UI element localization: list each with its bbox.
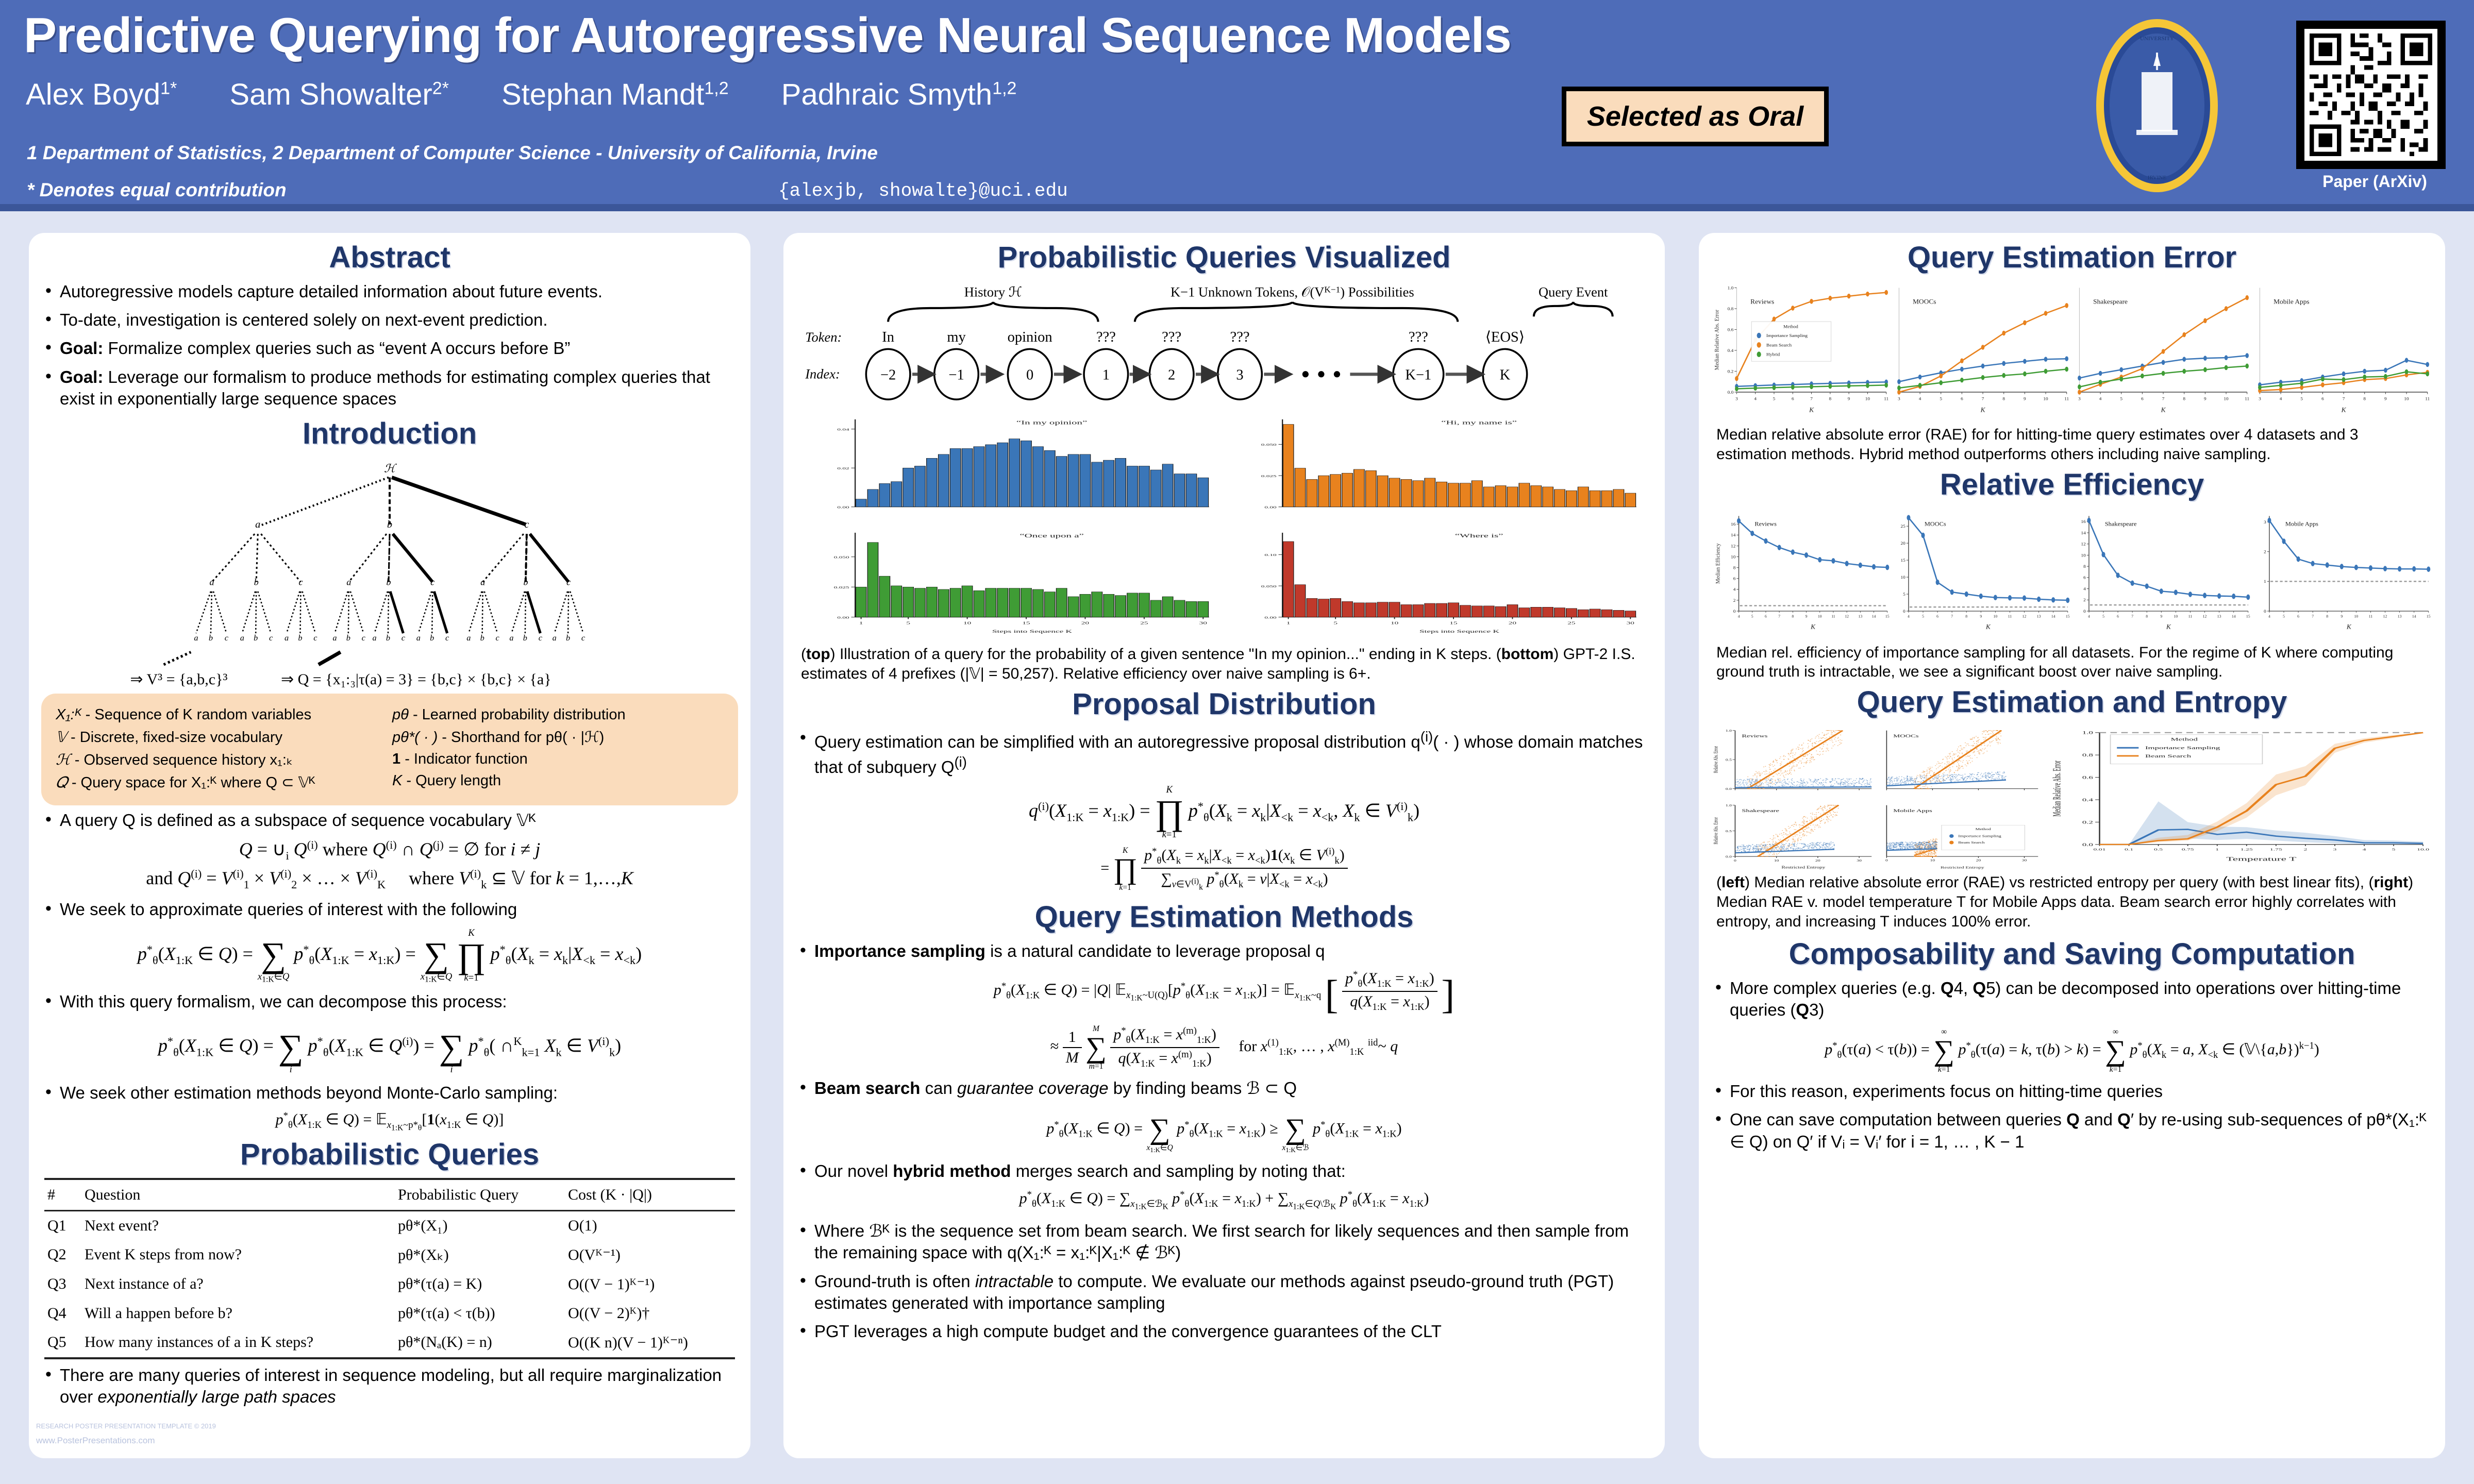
list-item: With this query formalism, we can decomp…	[42, 991, 737, 1013]
svg-text:9: 9	[1980, 614, 1982, 618]
col-header-query: Probabilistic Query	[395, 1179, 565, 1211]
svg-text:12: 12	[2203, 614, 2207, 618]
svg-text:b: b	[346, 633, 350, 643]
svg-text:10: 10	[1818, 614, 1822, 618]
entropy-scatter-grid: 0.00.51.0Relative Abs. ErrorReviews MOOC…	[1710, 726, 2043, 870]
svg-text:1.0: 1.0	[1726, 729, 1732, 733]
svg-text:5: 5	[2300, 396, 2303, 401]
svg-text:5: 5	[1903, 592, 1905, 597]
svg-text:⟨EOS⟩: ⟨EOS⟩	[1485, 329, 1525, 345]
notation-row: 𝕍 - Discrete, fixed-size vocabulary	[56, 728, 387, 746]
svg-text:0.8: 0.8	[1728, 306, 1734, 311]
equation-importance-sampling-approx: ≈ 1M M∑m=1 p*θ(X1:K = x(m)1:K)q(X1:K = x…	[783, 1025, 1665, 1070]
svg-text:5: 5	[2392, 848, 2395, 851]
svg-text:c: c	[524, 519, 529, 530]
svg-text:5: 5	[2283, 614, 2285, 618]
svg-text:b: b	[386, 577, 391, 587]
notation-row: X₁:ᴷ - Sequence of K random variables	[56, 706, 387, 723]
svg-text:4: 4	[2268, 614, 2270, 618]
svg-text:a: a	[373, 633, 377, 643]
svg-text:K: K	[1985, 623, 1991, 630]
re-panel-0: 0246810121416Median Efficiency4567891011…	[1711, 508, 1892, 639]
svg-text:10: 10	[1865, 396, 1870, 401]
svg-text:8: 8	[2083, 564, 2086, 569]
svg-text:6: 6	[1765, 614, 1767, 618]
svg-text:11: 11	[2188, 614, 2193, 618]
svg-text:MOOCs: MOOCs	[1913, 298, 1936, 306]
svg-text:Importance Sampling: Importance Sampling	[1958, 835, 2001, 838]
equation-query-decomposition-2: p*θ(X1:K ∈ Q) = ∑i p*θ(X1:K ∈ Q(i)) = ∑i…	[29, 1020, 750, 1075]
svg-text:2: 2	[2264, 549, 2266, 554]
svg-text:4: 4	[1754, 396, 1757, 401]
svg-text:K: K	[1980, 406, 1986, 414]
cell-id: Q2	[44, 1240, 81, 1270]
histogram-panel-3: 0.000.0500.10“Where is”151015202530Steps…	[1231, 520, 1644, 642]
svg-text:10: 10	[2224, 396, 2229, 401]
svg-text:10: 10	[963, 621, 971, 626]
row-label-token: Token:	[805, 329, 842, 345]
svg-text:K: K	[2161, 406, 2166, 414]
svg-text:Mobile Apps: Mobile Apps	[2285, 520, 2318, 528]
template-credit-line1: RESEARCH POSTER PRESENTATION TEMPLATE © …	[36, 1422, 216, 1430]
methods-trailing-bullets: Where ℬᴷ is the sequence set from beam s…	[797, 1220, 1651, 1342]
svg-text:11: 11	[2064, 396, 2069, 401]
cell-cost: O(Vᴷ⁻¹)	[565, 1240, 735, 1270]
section-title-abstract: Abstract	[29, 240, 750, 275]
svg-text:c: c	[430, 577, 434, 587]
sequence-diagram: History ℋ K−1 Unknown Tokens, 𝒪(VK−1) Po…	[799, 281, 1649, 404]
svg-text:15: 15	[1449, 621, 1457, 626]
svg-text:30: 30	[2022, 859, 2027, 863]
svg-text:c: c	[269, 633, 273, 643]
section-title-proposal-distribution: Proposal Distribution	[783, 687, 1665, 721]
svg-text:0.00: 0.00	[1264, 616, 1276, 620]
svg-text:16: 16	[2081, 519, 2086, 524]
svg-text:2: 2	[1168, 367, 1175, 383]
svg-text:14: 14	[2081, 530, 2086, 535]
svg-text:0.0: 0.0	[1726, 787, 1732, 791]
svg-text:6: 6	[2141, 396, 2144, 401]
svg-text:11: 11	[1831, 614, 1835, 618]
list-item: Autoregressive models capture detailed i…	[42, 281, 737, 302]
bracket-label-history: History ℋ	[964, 284, 1022, 300]
svg-text:6: 6	[2321, 396, 2324, 401]
svg-text:0.04: 0.04	[837, 428, 849, 431]
notation-box: X₁:ᴷ - Sequence of K random variables 𝕍 …	[41, 694, 738, 805]
svg-text:20: 20	[1901, 541, 1906, 546]
svg-text:10: 10	[2174, 614, 2178, 618]
re-panel-1: 0510152025456789101112131415KMOOCs	[1892, 508, 2072, 639]
notation-row: pθ - Learned probability distribution	[392, 706, 724, 723]
svg-text:8: 8	[1829, 396, 1832, 401]
svg-text:K: K	[1810, 623, 1816, 630]
list-item: We seek other estimation methods beyond …	[42, 1082, 737, 1104]
svg-text:15: 15	[2246, 614, 2250, 618]
equation-composability: p*θ(τ(a) < τ(b)) = ∞∑k=1 p*θ(τ(a) = k, τ…	[1699, 1028, 2445, 1073]
re-panel-3: 0123456789101112131415KMobile Apps	[2252, 508, 2433, 639]
cell-id: Q4	[44, 1299, 81, 1328]
equation-proposal-2: = K∏k=1 p*θ(Xk = xk|X<k = x<k)1(xk ∈ V(i…	[783, 846, 1665, 892]
svg-text:Mobile Apps: Mobile Apps	[2274, 298, 2309, 306]
svg-text:???: ???	[1096, 329, 1116, 345]
list-item: PGT leverages a high compute budget and …	[797, 1321, 1651, 1342]
svg-text:4: 4	[2362, 848, 2366, 851]
svg-text:Method: Method	[2170, 737, 2198, 741]
svg-text:8: 8	[1792, 614, 1794, 618]
svg-text:9: 9	[1848, 396, 1850, 401]
svg-text:Shakespeare: Shakespeare	[1742, 808, 1779, 813]
list-item: Query estimation can be simplified with …	[797, 728, 1651, 778]
re-panel-2: 0246810121416456789101112131415KShakespe…	[2072, 508, 2252, 639]
figure-caption-queries-visualized: (top) Illustration of a query for the pr…	[801, 645, 1647, 684]
svg-text:c: c	[581, 633, 586, 643]
svg-text:Restricted Entropy: Restricted Entropy	[1941, 866, 1984, 869]
svg-text:c: c	[566, 577, 571, 587]
list-item: Goal: Formalize complex queries such as …	[42, 338, 737, 359]
svg-text:15: 15	[2066, 614, 2070, 618]
queries-closing-bullet: There are many queries of interest in se…	[42, 1364, 737, 1408]
svg-text:25: 25	[1140, 621, 1148, 626]
svg-text:Relative Abs. Error: Relative Abs. Error	[1713, 817, 1719, 845]
notation-row: pθ*( · ) - Shorthand for pθ( · |ℋ)	[392, 728, 724, 746]
list-item: A query Q is defined as a subspace of se…	[42, 810, 737, 831]
svg-text:0.5: 0.5	[1726, 758, 1732, 762]
svg-text:3: 3	[2333, 848, 2336, 851]
list-item: Importance sampling is a natural candida…	[797, 940, 1651, 962]
contact-email: {alexjb, showalte}@uci.edu	[778, 180, 1068, 201]
svg-text:0.5: 0.5	[2154, 848, 2163, 851]
svg-text:0.025: 0.025	[834, 586, 849, 589]
query-estimation-error-charts: 0.00.20.40.60.81.0Median Relative Abs. E…	[1711, 281, 2433, 420]
svg-text:1: 1	[1286, 621, 1291, 626]
svg-text:b: b	[480, 633, 484, 643]
svg-text:1: 1	[859, 621, 863, 626]
svg-text:0.75: 0.75	[2182, 848, 2194, 851]
svg-text:a: a	[553, 633, 557, 643]
query-tree-diagram: ℋ a b c abc	[39, 457, 740, 673]
svg-text:K: K	[1500, 367, 1511, 383]
ent-panel-3: 0102030Restricted EntropyMobile AppsMeth…	[1877, 800, 2043, 875]
svg-text:7: 7	[1982, 396, 1984, 401]
svg-text:1.0: 1.0	[1728, 285, 1734, 291]
svg-text:−2: −2	[880, 367, 896, 383]
equation-beam-search: p*θ(X1:K ∈ Q) = ∑x1:K∈Q p*θ(X1:K = x1:K)…	[783, 1106, 1665, 1153]
svg-text:8: 8	[2363, 396, 2366, 401]
svg-text:10.0: 10.0	[2417, 848, 2429, 851]
equation-proposal-1: q(i)(X1:K = x1:K) = K∏k=1 p*θ(Xk = xk|X<…	[783, 785, 1665, 840]
beyond-mc-bullet: We seek other estimation methods beyond …	[42, 1082, 737, 1104]
svg-text:b: b	[430, 633, 434, 643]
approximation-bullet: We seek to approximate queries of intere…	[42, 899, 737, 920]
page-title: Predictive Querying for Autoregressive N…	[24, 7, 2060, 64]
cell-id: Q1	[44, 1210, 81, 1240]
svg-text:c: c	[298, 577, 303, 587]
equation-hybrid: p*θ(X1:K ∈ Q) = ∑x1:K∈ℬK p*θ(X1:K = x1:K…	[783, 1189, 1665, 1212]
equation-importance-sampling: p*θ(X1:K ∈ Q) = |Q| 𝔼x1:K~U(Q)[p*θ(X1:K …	[783, 969, 1665, 1018]
svg-text:9: 9	[2384, 396, 2387, 401]
svg-text:???: ???	[1162, 329, 1181, 345]
cell-query: pθ*(τ(a) = K)	[395, 1270, 565, 1299]
qr-code[interactable]: Paper (ArXiv)	[2296, 21, 2453, 211]
template-credit-line2: www.PosterPresentations.com	[36, 1436, 155, 1446]
poster-root: Predictive Querying for Autoregressive N…	[0, 0, 2474, 1484]
svg-text:10: 10	[1994, 614, 1998, 618]
column-middle: Probabilistic Queries Visualized History…	[783, 233, 1665, 1458]
proposal-bullets: Query estimation can be simplified with …	[797, 728, 1651, 778]
section-title-probabilistic-queries: Probabilistic Queries	[29, 1137, 750, 1172]
qee-panel-0: 0.00.20.40.60.81.0Median Relative Abs. E…	[1711, 281, 1892, 423]
svg-text:Median Efficiency: Median Efficiency	[1715, 543, 1721, 583]
ent-panel-0: 0.00.51.0Relative Abs. ErrorReviews	[1710, 726, 1877, 800]
svg-text:15: 15	[1901, 558, 1906, 563]
svg-text:13: 13	[2217, 614, 2221, 618]
svg-text:10: 10	[1731, 554, 1736, 559]
section-title-query-estimation-methods: Query Estimation Methods	[783, 900, 1665, 934]
col-header-cost: Cost (K · |Q|)	[565, 1179, 735, 1211]
equal-contribution-note: * Denotes equal contribution	[27, 179, 287, 201]
svg-text:b: b	[386, 633, 390, 643]
qr-caption: Paper (ArXiv)	[2296, 172, 2453, 191]
svg-text:6: 6	[2117, 614, 2119, 618]
svg-text:“Once upon a”: “Once upon a”	[1019, 533, 1084, 539]
svg-text:0.4: 0.4	[1728, 348, 1734, 353]
svg-text:4: 4	[2083, 586, 2086, 591]
cell-query: pθ*(Xₖ)	[395, 1240, 565, 1270]
svg-text:5: 5	[1333, 621, 1338, 626]
probabilistic-queries-table: # Question Probabilistic Query Cost (K ·…	[44, 1178, 735, 1359]
svg-text:4: 4	[1738, 614, 1740, 618]
svg-text:3: 3	[1898, 396, 1900, 401]
svg-text:2: 2	[2303, 848, 2307, 851]
table-body: Q1 Next event? pθ*(X₁) O(1) Q2 Event K s…	[44, 1210, 735, 1358]
svg-text:0.050: 0.050	[1261, 585, 1277, 588]
svg-text:Steps into Sequence K: Steps into Sequence K	[1419, 629, 1499, 634]
bracket-label-unknown: K−1 Unknown Tokens, 𝒪(VK−1) Possibilitie…	[1171, 284, 1414, 300]
section-title-query-estimation-entropy: Query Estimation and Entropy	[1699, 685, 2445, 719]
svg-text:4: 4	[1733, 587, 1736, 592]
svg-text:5: 5	[1922, 614, 1924, 618]
svg-text:4: 4	[1908, 614, 1910, 618]
svg-text:·UNIVERSITY·: ·UNIVERSITY·	[2138, 36, 2176, 42]
svg-text:7: 7	[2162, 396, 2165, 401]
section-title-introduction: Introduction	[29, 416, 750, 451]
svg-text:???: ???	[1230, 329, 1250, 345]
svg-text:IRVINE: IRVINE	[2148, 175, 2167, 181]
svg-text:a: a	[240, 633, 244, 643]
svg-text:0.02: 0.02	[837, 467, 849, 470]
svg-text:16: 16	[1731, 521, 1736, 527]
histogram-panel-1: 0.000.0250.050“Hi, my name is”	[1231, 407, 1644, 517]
cell-question: Next event?	[81, 1210, 395, 1240]
svg-text:12: 12	[1731, 543, 1735, 548]
section-title-query-estimation-error: Query Estimation Error	[1699, 240, 2445, 275]
list-item: Where ℬᴷ is the sequence set from beam s…	[797, 1220, 1651, 1263]
decompose-bullet: With this query formalism, we can decomp…	[42, 991, 737, 1013]
svg-text:7: 7	[1951, 614, 1953, 618]
svg-text:3: 3	[2264, 519, 2266, 525]
svg-text:0: 0	[2083, 609, 2086, 614]
svg-text:8: 8	[2002, 396, 2005, 401]
svg-text:Relative Abs. Error: Relative Abs. Error	[1713, 746, 1719, 773]
table-row: Q3 Next instance of a? pθ*(τ(a) = K) O((…	[44, 1270, 735, 1299]
qee-panel-1: 34567891011KMOOCs	[1892, 281, 2072, 423]
svg-text:c: c	[362, 633, 366, 643]
svg-text:Method: Method	[1976, 828, 1991, 831]
cell-id: Q5	[44, 1328, 81, 1358]
svg-text:K: K	[2341, 406, 2347, 414]
author-2: Stephan Mandt1,2	[502, 78, 729, 111]
list-item: To-date, investigation is centered solel…	[42, 309, 737, 331]
cell-query: pθ*(τ(a) < τ(b))	[395, 1299, 565, 1328]
svg-text:c: c	[539, 633, 543, 643]
svg-text:0.0: 0.0	[2082, 842, 2094, 847]
svg-text:11: 11	[2369, 614, 2373, 618]
cell-cost: O((V − 2)ᴷ)†	[565, 1299, 735, 1328]
svg-text:In: In	[882, 329, 894, 345]
svg-text:12: 12	[2022, 614, 2027, 618]
equation-query-decomposition-1: p*θ(X1:K ∈ Q) = ∑x1:K∈Q p*θ(X1:K = x1:K)…	[29, 927, 750, 984]
svg-text:10: 10	[2404, 396, 2409, 401]
svg-text:3: 3	[1236, 367, 1243, 383]
svg-text:10: 10	[2081, 552, 2086, 558]
svg-text:b: b	[209, 633, 213, 643]
svg-text:3: 3	[2259, 396, 2261, 401]
author-0: Alex Boyd1*	[26, 78, 177, 111]
svg-text:3: 3	[2078, 396, 2081, 401]
list-item: Beam search can guarantee coverage by fi…	[797, 1077, 1651, 1099]
svg-text:Median Relative Abs. Error: Median Relative Abs. Error	[2050, 761, 2063, 817]
svg-text:6: 6	[1792, 396, 1794, 401]
list-item: One can save computation between queries…	[1712, 1109, 2432, 1152]
svg-text:b: b	[523, 577, 528, 587]
svg-text:MOOCs: MOOCs	[1893, 733, 1919, 738]
svg-text:12: 12	[2383, 614, 2387, 618]
svg-text:b: b	[298, 633, 302, 643]
svg-text:8: 8	[2146, 614, 2148, 618]
svg-text:a: a	[466, 633, 471, 643]
list-item: There are many queries of interest in se…	[42, 1364, 737, 1408]
svg-text:10: 10	[1930, 859, 1935, 863]
svg-text:13: 13	[2398, 614, 2402, 618]
svg-text:5: 5	[906, 621, 910, 626]
equation-expectation-indicator: p*θ(X1:K ∈ Q) = 𝔼x1:K~p*θ[1(x1:K ∈ Q)]	[29, 1110, 750, 1133]
notation-col-left: X₁:ᴷ - Sequence of K random variables 𝕍 …	[56, 702, 387, 796]
figure-caption-relative-efficiency: Median rel. efficiency of importance sam…	[1716, 643, 2428, 682]
section-title-relative-efficiency: Relative Efficiency	[1699, 467, 2445, 502]
equation-query-union: Q = ∪i Q(i) where Q(i) ∩ Q(j) = ∅ for i …	[29, 838, 750, 863]
svg-text:14: 14	[1872, 614, 1876, 618]
temperature-chart: 0.00.20.40.60.81.0Median Relative Abs. E…	[2043, 726, 2434, 870]
table-header-row: # Question Probabilistic Query Cost (K ·…	[44, 1179, 735, 1211]
svg-text:6: 6	[2297, 614, 2299, 618]
column-left: Abstract Autoregressive models capture d…	[29, 233, 750, 1458]
svg-text:8: 8	[2183, 396, 2185, 401]
svg-text:K: K	[1809, 406, 1814, 414]
svg-text:b: b	[387, 519, 392, 530]
svg-text:0.4: 0.4	[2082, 798, 2094, 802]
svg-text:0.1: 0.1	[2125, 848, 2133, 851]
svg-text:9: 9	[2160, 614, 2162, 618]
svg-text:30: 30	[1627, 621, 1634, 626]
svg-text:Shakespeare: Shakespeare	[2093, 298, 2128, 306]
svg-text:Steps into Sequence K: Steps into Sequence K	[992, 629, 1072, 634]
svg-text:c: c	[402, 633, 406, 643]
cell-id: Q3	[44, 1270, 81, 1299]
svg-text:7: 7	[1810, 396, 1813, 401]
svg-text:ℋ: ℋ	[384, 462, 397, 475]
notation-row: 𝑄 - Query space for X₁:ᴷ where Q ⊂ 𝕍ᴷ	[56, 773, 387, 791]
svg-text:9: 9	[2204, 396, 2206, 401]
svg-text:12: 12	[2081, 541, 2086, 546]
methods-bullet-beam-search: Beam search can guarantee coverage by fi…	[797, 1077, 1651, 1099]
svg-text:a: a	[332, 633, 337, 643]
svg-text:my: my	[947, 329, 966, 345]
methods-bullet-hybrid: Our novel hybrid method merges search an…	[797, 1160, 1651, 1182]
svg-text:0.050: 0.050	[834, 556, 849, 560]
section-title-composability: Composability and Saving Computation	[1699, 937, 2445, 971]
uci-logo: ·UNIVERSITY· IRVINE	[2064, 15, 2250, 196]
svg-text:20: 20	[1081, 621, 1089, 626]
svg-text:c: c	[495, 633, 499, 643]
svg-text:???: ???	[1409, 329, 1428, 345]
svg-text:7: 7	[1778, 614, 1780, 618]
svg-text:25: 25	[1901, 524, 1906, 529]
svg-text:0.10: 0.10	[1264, 553, 1276, 557]
histogram-panel-2: 0.000.0250.050“Once upon a”151015202530S…	[804, 520, 1217, 642]
svg-text:0.00: 0.00	[837, 616, 849, 620]
list-item: For this reason, experiments focus on hi…	[1712, 1081, 2432, 1102]
svg-text:6: 6	[2083, 575, 2086, 580]
svg-text:Reviews: Reviews	[1742, 733, 1767, 738]
notation-row: K - Query length	[392, 772, 724, 789]
svg-text:0.2: 0.2	[1728, 369, 1734, 374]
svg-text:6: 6	[1961, 396, 1963, 401]
entropy-figure-row: 0.00.51.0Relative Abs. ErrorReviews MOOC…	[1710, 726, 2434, 870]
svg-text:1.0: 1.0	[2082, 731, 2094, 735]
svg-text:12: 12	[1845, 614, 1849, 618]
cell-cost: O(1)	[565, 1210, 735, 1240]
notation-row: 1 - Indicator function	[392, 751, 724, 768]
notation-row: ℋ - Observed sequence history x₁:ₖ	[56, 751, 387, 769]
svg-text:11: 11	[1884, 396, 1888, 401]
formalism-bullets: A query Q is defined as a subspace of se…	[42, 810, 737, 831]
svg-text:K−1: K−1	[1405, 367, 1431, 383]
svg-text:9: 9	[2024, 396, 2026, 401]
svg-text:10: 10	[1391, 621, 1398, 626]
svg-text:K: K	[2166, 623, 2171, 630]
author-list: Alex Boyd1* Sam Showalter2* Stephan Mand…	[26, 77, 1572, 112]
composability-bullets-top: More complex queries (e.g. Q4, Q5) can b…	[1712, 977, 2432, 1021]
svg-text:a: a	[346, 577, 351, 587]
svg-text:1.75: 1.75	[2270, 848, 2282, 851]
table-row: Q5 How many instances of a in K steps? p…	[44, 1328, 735, 1358]
svg-text:0.01: 0.01	[2093, 848, 2105, 851]
svg-text:20: 20	[1976, 859, 1981, 863]
svg-text:4: 4	[2088, 614, 2090, 618]
svg-text:Beam Search: Beam Search	[1958, 841, 1984, 845]
cell-question: Event K steps from now?	[81, 1240, 395, 1270]
svg-text:0: 0	[1885, 859, 1888, 863]
svg-text:1.25: 1.25	[2241, 848, 2253, 851]
svg-text:9: 9	[1806, 614, 1808, 618]
svg-text:0: 0	[1734, 859, 1736, 863]
list-item: Ground-truth is often intractable to com…	[797, 1271, 1651, 1314]
affiliation-line: 1 Department of Statistics, 2 Department…	[27, 142, 878, 164]
cell-cost: O((K n)(V − 1)ᴷ⁻ⁿ)	[565, 1328, 735, 1358]
svg-text:11: 11	[2425, 396, 2430, 401]
svg-text:0.0: 0.0	[1726, 855, 1732, 859]
svg-text:14: 14	[1731, 532, 1736, 537]
